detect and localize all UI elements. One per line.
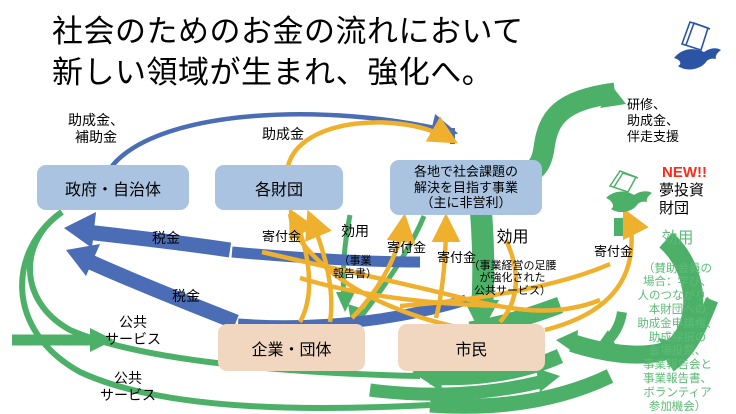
label-utility-foundation-title: 効用 <box>333 223 377 240</box>
dove-with-papers-green-icon <box>604 168 662 220</box>
label-donation-1: 寄付金 <box>262 229 301 244</box>
label-training-support: 研修、 助成金、 伴走支援 <box>627 97 679 145</box>
node-foundations[interactable]: 各財団 <box>215 165 343 210</box>
label-utility-center-detail: （事業経営の足腰 が強化された 公共サービス） <box>455 260 570 298</box>
dove-with-papers-icon <box>668 14 732 80</box>
label-utility-center: 効用 （事業経営の足腰 が強化された 公共サービス） <box>455 216 570 310</box>
blue-flow-group <box>64 114 466 325</box>
label-subsidy-foundation: 助成金 <box>262 126 304 143</box>
label-green-utility-detail: （賛助会員の 場合：学び、 人のつながり、 本財団への 助成金申請権、 助成採択… <box>637 263 718 413</box>
badge-new: NEW!! <box>662 164 707 182</box>
diagram-canvas: 社会のためのお金の流れにおいて 新しい領域が生まれ、強化へ。 政府・自治体 各財… <box>0 0 736 414</box>
label-tax-lower: 税金 <box>172 288 200 305</box>
label-utility-center-title: 効用 <box>455 229 570 247</box>
label-green-utility: 効用 （賛助会員の 場合：学び、 人のつながり、 本財団への 助成金申請権、 助… <box>621 215 734 414</box>
label-subsidy-government: 助成金、 補助金 <box>68 112 124 145</box>
label-utility-foundation-detail: （事業 報告書） <box>333 255 377 280</box>
label-public-service-upper: 公共 サービス <box>105 314 161 347</box>
node-government[interactable]: 政府・自治体 <box>37 165 189 210</box>
node-citizens[interactable]: 市民 <box>398 324 545 371</box>
page-title: 社会のためのお金の流れにおいて 新しい領域が生まれ、強化へ。 <box>52 12 524 94</box>
node-new-foundation: 夢投資 財団 <box>659 182 704 217</box>
label-utility-foundation: 効用 （事業 報告書） <box>333 208 377 296</box>
label-tax-upper: 税金 <box>152 230 180 247</box>
yellow-flow-group <box>262 122 632 330</box>
label-green-utility-title: 効用 <box>621 229 734 249</box>
label-donation-2: 寄付金 <box>387 240 426 255</box>
label-public-service-lower: 公共 サービス <box>100 370 156 403</box>
node-companies[interactable]: 企業・団体 <box>218 324 365 371</box>
node-projects[interactable]: 各地で社会課題の 解決を目指す事業 （主に非営利） <box>390 160 542 215</box>
